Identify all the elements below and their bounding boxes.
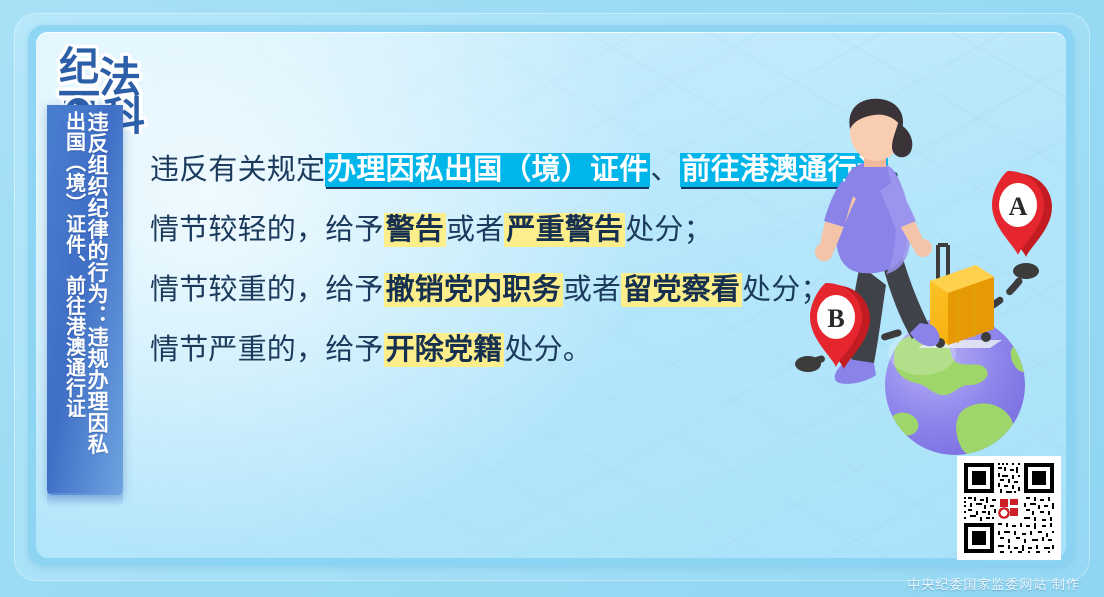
suitcase-wheel-right bbox=[981, 332, 991, 342]
qr-code[interactable] bbox=[957, 456, 1061, 560]
traveler-illustration: A B bbox=[790, 95, 1090, 455]
route-endpoint-b bbox=[795, 356, 821, 372]
line4-highlight-1: 开除党籍 bbox=[384, 333, 505, 367]
hand-left bbox=[815, 243, 833, 261]
route-endpoint-a bbox=[1013, 263, 1039, 279]
body-line-2: 情节较轻的，给予警告或者严重警告处分； bbox=[150, 200, 870, 260]
line3-segment-2: 或者 bbox=[563, 274, 621, 306]
map-pin-a: A bbox=[992, 171, 1052, 257]
line3-highlight-2: 留党察看 bbox=[621, 273, 742, 307]
line4-segment-1: 情节严重的，给予 bbox=[150, 334, 384, 366]
line2-segment-3: 处分； bbox=[625, 214, 713, 246]
body-line-1: 违反有关规定办理因私出国（境）证件、前往港澳通行证， bbox=[150, 140, 870, 200]
pin-a-label: A bbox=[1009, 192, 1028, 221]
pin-b-label: B bbox=[827, 304, 844, 333]
line3-highlight-1: 撤销党内职务 bbox=[384, 273, 563, 307]
svg-text:法: 法 bbox=[99, 55, 141, 102]
line2-segment-1: 情节较轻的，给予 bbox=[150, 214, 384, 246]
hand-right bbox=[914, 239, 932, 257]
qr-center-logo bbox=[998, 497, 1020, 519]
body-line-4: 情节严重的，给予开除党籍处分。 bbox=[150, 320, 870, 380]
banner-column-right: 违反组织纪律的行为：违规办理因私 bbox=[85, 111, 107, 495]
line1-segment-1: 违反有关规定 bbox=[150, 154, 325, 186]
line1-segment-2: 、 bbox=[650, 154, 679, 186]
body-text: 违反有关规定办理因私出国（境）证件、前往港澳通行证， 情节较轻的，给予警告或者严… bbox=[150, 140, 870, 380]
svg-text:纪: 纪 bbox=[59, 44, 99, 89]
credit-text: 中央纪委国家监委网站 制作 bbox=[907, 574, 1080, 593]
line2-segment-2: 或者 bbox=[446, 214, 504, 246]
line2-highlight-2: 严重警告 bbox=[504, 213, 625, 247]
line4-segment-2: 处分。 bbox=[504, 334, 592, 366]
vertical-title-banner: 违反组织纪律的行为：违规办理因私 出国（境）证件、前往港澳通行证 bbox=[47, 105, 123, 495]
line3-segment-1: 情节较重的，给予 bbox=[150, 274, 384, 306]
poster-canvas: 纪 法 百 科 纪 法 百 科 违反组织纪律的行为：违规办理因私 出国（境）证件… bbox=[0, 0, 1104, 597]
line2-highlight-1: 警告 bbox=[384, 213, 446, 247]
banner-column-left: 出国（境）证件、前往港澳通行证 bbox=[63, 111, 84, 495]
body-line-3: 情节较重的，给予撤销党内职务或者留党察看处分； bbox=[150, 260, 870, 320]
line1-highlight-1: 办理因私出国（境）证件 bbox=[325, 153, 650, 187]
